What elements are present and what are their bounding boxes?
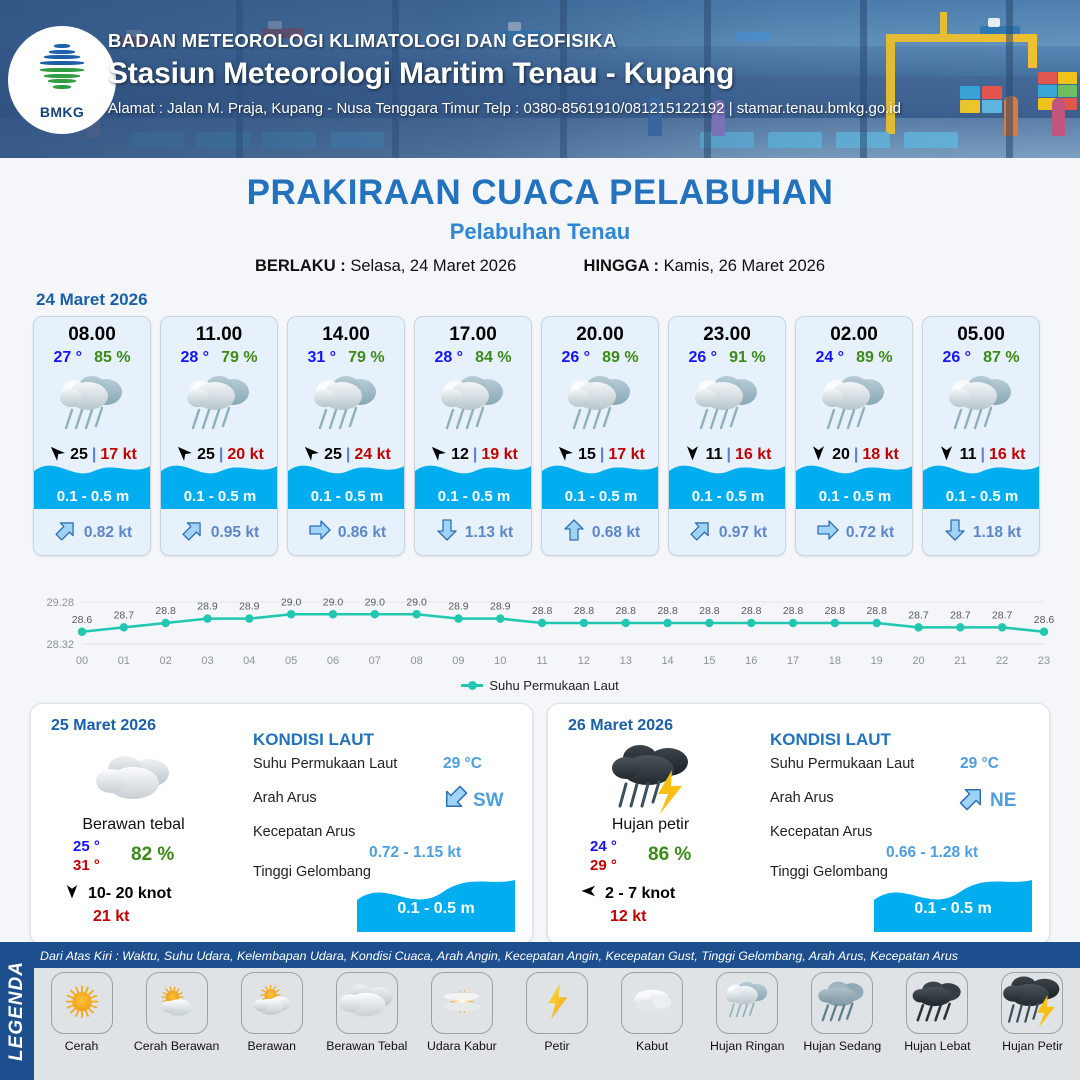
svg-text:28.9: 28.9: [448, 601, 469, 613]
svg-text:13: 13: [620, 655, 632, 667]
svg-text:02: 02: [160, 655, 172, 667]
card-wave-height: 0.1 - 0.5 m: [923, 483, 1040, 509]
legend-item: Udara Kabur: [414, 972, 509, 1053]
arrow-left-icon: [580, 882, 598, 905]
svg-text:00: 00: [76, 655, 88, 667]
svg-text:28.8: 28.8: [155, 605, 176, 617]
svg-text:16: 16: [745, 655, 757, 667]
card-humidity: 89 %: [602, 349, 638, 367]
card-current-speed: 1.18 kt: [973, 524, 1021, 542]
chart-legend-label: Suhu Permukaan Laut: [489, 678, 618, 693]
card-time: 20.00: [542, 317, 658, 346]
card-wave-height: 0.1 - 0.5 m: [288, 483, 405, 509]
svg-text:29.0: 29.0: [406, 596, 427, 608]
rain-sun-cloud-icon: [288, 369, 404, 441]
day-wind-speed: 10- 20 knot: [88, 885, 172, 903]
valid-from-value: Selasa, 24 Maret 2026: [350, 257, 516, 275]
sun-behind-cloud-icon: [241, 972, 303, 1034]
rain-sun-cloud-icon: [796, 369, 912, 441]
svg-text:28.9: 28.9: [239, 601, 260, 613]
card-temperature: 24 °: [815, 349, 844, 367]
day-temp-min: 24 °: [590, 838, 617, 855]
bmkg-logo-text: BMKG: [40, 104, 84, 120]
station-name: Stasiun Meteorologi Maritim Tenau - Kupa…: [108, 57, 1068, 91]
rain-sun-cloud-icon: [415, 369, 531, 441]
svg-text:28.8: 28.8: [699, 605, 720, 617]
card-time: 02.00: [796, 317, 912, 346]
day-date: 26 Maret 2026: [568, 717, 673, 735]
sst-chart-svg: 29.2828.3228.60028.70128.80228.90328.904…: [20, 570, 1060, 670]
moderate-rain-icon: [811, 972, 873, 1034]
day-gust: 12 kt: [610, 908, 646, 926]
hourly-card: 17.00 28 ° 84 %: [414, 316, 532, 556]
wave-graphic: 0.1 - 0.5 m: [874, 874, 1032, 932]
card-temp-humidity: 26 ° 87 %: [923, 349, 1039, 367]
hourly-card: 05.00 26 ° 87 %: [922, 316, 1040, 556]
legend-side-text: LEGENDA: [6, 961, 28, 1061]
svg-text:28.6: 28.6: [72, 614, 93, 626]
card-temperature: 28 °: [434, 349, 463, 367]
card-time: 17.00: [415, 317, 531, 346]
day-temp-min: 25 °: [73, 838, 100, 855]
arrow-right-icon: [308, 518, 332, 547]
wave-graphic: 0.1 - 0.5 m: [357, 874, 515, 932]
legend-item-label: Kabut: [636, 1039, 668, 1053]
hourly-date-label: 24 Maret 2026: [36, 290, 1080, 310]
svg-text:09: 09: [452, 655, 464, 667]
card-humidity: 84 %: [475, 349, 511, 367]
sun-icon: [51, 972, 113, 1034]
card-wave-height: 0.1 - 0.5 m: [415, 483, 532, 509]
page-header: BMKG BADAN METEOROLOGI KLIMATOLOGI DAN G…: [0, 0, 1080, 158]
card-temperature: 31 °: [307, 349, 336, 367]
card-wave-height: 0.1 - 0.5 m: [796, 483, 913, 509]
card-temp-humidity: 24 ° 89 %: [796, 349, 912, 367]
legend-item: Hujan Lebat: [890, 972, 985, 1053]
card-current-row: 0.68 kt: [542, 518, 659, 547]
hourly-card: 02.00 24 ° 89 %: [795, 316, 913, 556]
day-temperature-range: 24 ° 29 °: [590, 838, 617, 874]
legend-item: Hujan Sedang: [795, 972, 890, 1053]
card-humidity: 79 %: [348, 349, 384, 367]
legend-item-label: Cerah Berawan: [134, 1039, 219, 1053]
card-wave-height: 0.1 - 0.5 m: [34, 483, 151, 509]
svg-text:28.8: 28.8: [616, 605, 637, 617]
daily-forecast-panel: 26 Maret 2026 Hujan petir 24 ° 29 ° 86 %…: [547, 703, 1050, 945]
card-temperature: 26 °: [688, 349, 717, 367]
card-temp-humidity: 31 ° 79 %: [288, 349, 404, 367]
card-wave-height: 0.1 - 0.5 m: [161, 483, 278, 509]
svg-text:14: 14: [661, 655, 673, 667]
svg-text:28.32: 28.32: [46, 639, 74, 651]
current-speed-label: Kecepatan Arus: [770, 824, 872, 840]
legend-icon-list: Cerah Cerah Berawan Berawan: [34, 972, 1080, 1053]
sst-chart: 29.2828.3228.60028.70128.80228.90328.904…: [20, 570, 1060, 670]
legend-item-label: Hujan Sedang: [803, 1039, 881, 1053]
svg-text:29.28: 29.28: [46, 597, 74, 609]
day-humidity: 86 %: [648, 844, 691, 866]
current-speed-value: 0.72 - 1.15 kt: [369, 844, 461, 862]
svg-text:15: 15: [703, 655, 715, 667]
card-humidity: 87 %: [983, 349, 1019, 367]
card-current-row: 0.82 kt: [34, 518, 151, 547]
agency-name: BADAN METEOROLOGI KLIMATOLOGI DAN GEOFIS…: [108, 30, 1068, 52]
svg-text:28.8: 28.8: [866, 605, 887, 617]
svg-text:19: 19: [871, 655, 883, 667]
svg-text:28.6: 28.6: [1034, 614, 1055, 626]
svg-text:22: 22: [996, 655, 1008, 667]
svg-text:11: 11: [536, 655, 547, 667]
svg-text:28.7: 28.7: [950, 609, 971, 621]
validity-period: BERLAKU : Selasa, 24 Maret 2026 HINGGA :…: [0, 257, 1080, 276]
legend-item: Hujan Petir: [985, 972, 1080, 1053]
legend-item: Petir: [509, 972, 604, 1053]
card-current-row: 0.97 kt: [669, 518, 786, 547]
thunderstorm-icon: [1001, 972, 1063, 1034]
legend-section: LEGENDA Dari Atas Kiri : Waktu, Suhu Uda…: [0, 942, 1080, 1080]
svg-text:28.8: 28.8: [574, 605, 595, 617]
card-current-row: 1.18 kt: [923, 518, 1040, 547]
arrow-down-icon: [63, 882, 81, 905]
current-speed-value: 0.66 - 1.28 kt: [886, 844, 978, 862]
legend-item-label: Hujan Ringan: [710, 1039, 785, 1053]
card-humidity: 91 %: [729, 349, 765, 367]
valid-until-value: Kamis, 26 Maret 2026: [664, 257, 825, 275]
thick-cloud-icon: [336, 972, 398, 1034]
wave-height-label: Tinggi Gelombang: [253, 864, 371, 880]
svg-text:10: 10: [494, 655, 506, 667]
card-humidity: 89 %: [856, 349, 892, 367]
card-humidity: 85 %: [94, 349, 130, 367]
lightning-icon: [526, 972, 588, 1034]
legend-item-label: Berawan: [247, 1039, 296, 1053]
day-temp-max: 31 °: [73, 857, 100, 874]
rain-sun-cloud-icon: [34, 369, 150, 441]
card-current-row: 0.95 kt: [161, 518, 278, 547]
sea-condition-title: KONDISI LAUT: [253, 730, 374, 750]
legend-item: Berawan: [224, 972, 319, 1053]
sst-label: Suhu Permukaan Laut: [770, 756, 914, 772]
chart-legend-marker: [461, 684, 483, 687]
bmkg-logo-mark: [31, 41, 93, 103]
header-text-block: BADAN METEOROLOGI KLIMATOLOGI DAN GEOFIS…: [108, 30, 1068, 117]
day-date: 25 Maret 2026: [51, 717, 156, 735]
chart-legend: Suhu Permukaan Laut: [0, 678, 1080, 693]
legend-item: Hujan Ringan: [700, 972, 795, 1053]
page-title: PRAKIRAAN CUACA PELABUHAN: [0, 173, 1080, 213]
arrow-down-icon: [435, 518, 459, 547]
day-humidity: 82 %: [131, 844, 174, 866]
svg-text:12: 12: [578, 655, 590, 667]
card-current-speed: 0.68 kt: [592, 524, 640, 542]
card-temp-humidity: 27 ° 85 %: [34, 349, 150, 367]
svg-text:05: 05: [285, 655, 297, 667]
wave-height-value: 0.1 - 0.5 m: [874, 900, 1032, 918]
svg-text:28.8: 28.8: [825, 605, 846, 617]
current-direction-label: Arah Arus: [770, 790, 834, 806]
card-current-speed: 0.82 kt: [84, 524, 132, 542]
svg-text:28.8: 28.8: [783, 605, 804, 617]
svg-text:01: 01: [118, 655, 130, 667]
card-time: 05.00: [923, 317, 1039, 346]
card-temperature: 26 °: [561, 349, 590, 367]
current-direction-value: NE: [990, 790, 1016, 812]
wave-height-label: Tinggi Gelombang: [770, 864, 888, 880]
arrow-up-icon: [562, 518, 586, 547]
current-direction-value-row: NE: [958, 784, 1016, 817]
day-wind-row: 10- 20 knot: [63, 882, 172, 905]
legend-item: Kabut: [605, 972, 700, 1053]
svg-text:28.9: 28.9: [490, 601, 511, 613]
title-section: PRAKIRAAN CUACA PELABUHAN Pelabuhan Tena…: [0, 158, 1080, 276]
card-current-speed: 0.97 kt: [719, 524, 767, 542]
card-humidity: 79 %: [221, 349, 257, 367]
svg-text:23: 23: [1038, 655, 1050, 667]
arrow-right-icon: [816, 518, 840, 547]
arrow-up-right-icon: [958, 784, 986, 817]
svg-text:29.0: 29.0: [323, 596, 344, 608]
svg-text:18: 18: [829, 655, 841, 667]
svg-text:28.7: 28.7: [992, 609, 1013, 621]
card-time: 08.00: [34, 317, 150, 346]
legend-item: Cerah Berawan: [129, 972, 224, 1053]
card-time: 23.00: [669, 317, 785, 346]
station-address: Alamat : Jalan M. Praja, Kupang - Nusa T…: [108, 100, 1068, 117]
svg-text:28.8: 28.8: [532, 605, 553, 617]
hourly-card: 11.00 28 ° 79 %: [160, 316, 278, 556]
legend-item-label: Petir: [544, 1039, 569, 1053]
hourly-card: 08.00 27 ° 85 %: [33, 316, 151, 556]
day-condition: Berawan tebal: [31, 816, 236, 834]
current-direction-label: Arah Arus: [253, 790, 317, 806]
svg-text:28.8: 28.8: [741, 605, 762, 617]
page-subtitle: Pelabuhan Tenau: [0, 219, 1080, 245]
sst-label: Suhu Permukaan Laut: [253, 756, 397, 772]
card-time: 14.00: [288, 317, 404, 346]
day-temp-max: 29 °: [590, 857, 617, 874]
rain-sun-cloud-icon: [161, 369, 277, 441]
hourly-forecast-list: 08.00 27 ° 85 %: [0, 316, 1080, 556]
day-temperature-range: 25 ° 31 °: [73, 838, 100, 874]
arrow-down-left-icon: [441, 784, 469, 817]
svg-text:29.0: 29.0: [281, 596, 302, 608]
current-direction-value: SW: [473, 790, 504, 812]
sun-cloud-icon: [146, 972, 208, 1034]
svg-text:28.7: 28.7: [114, 609, 135, 621]
thunderstorm-icon: [596, 740, 706, 818]
card-temperature: 27 °: [53, 349, 82, 367]
card-temperature: 28 °: [180, 349, 209, 367]
card-wave-height: 0.1 - 0.5 m: [669, 483, 786, 509]
sea-condition-title: KONDISI LAUT: [770, 730, 891, 750]
arrow-down-icon: [943, 518, 967, 547]
sst-value: 29 °C: [443, 755, 482, 773]
valid-until-label: HINGGA :: [584, 257, 659, 275]
haze-sun-icon: [431, 972, 493, 1034]
daily-forecast-panel: 25 Maret 2026 Berawan tebal 25 ° 31 ° 82…: [30, 703, 533, 945]
hourly-card: 14.00 31 ° 79 %: [287, 316, 405, 556]
legend-item-label: Hujan Petir: [1002, 1039, 1063, 1053]
rain-sun-cloud-icon: [669, 369, 785, 441]
svg-text:03: 03: [201, 655, 213, 667]
svg-text:07: 07: [369, 655, 381, 667]
svg-text:20: 20: [912, 655, 924, 667]
current-direction-value-row: SW: [441, 784, 504, 817]
day-condition: Hujan petir: [548, 816, 753, 834]
legend-side-label: LEGENDA: [0, 942, 34, 1080]
card-current-speed: 0.72 kt: [846, 524, 894, 542]
hourly-card: 23.00 26 ° 91 %: [668, 316, 786, 556]
card-current-speed: 0.95 kt: [211, 524, 259, 542]
sst-value: 29 °C: [960, 755, 999, 773]
card-current-row: 0.72 kt: [796, 518, 913, 547]
legend-description: Dari Atas Kiri : Waktu, Suhu Udara, Kele…: [40, 949, 1070, 963]
card-wave-height: 0.1 - 0.5 m: [542, 483, 659, 509]
svg-text:08: 08: [410, 655, 422, 667]
card-temp-humidity: 28 ° 79 %: [161, 349, 277, 367]
day-gust: 21 kt: [93, 908, 129, 926]
thick-cloud-icon: [79, 740, 189, 818]
card-temp-humidity: 26 ° 89 %: [542, 349, 658, 367]
legend-item-label: Berawan Tebal: [326, 1039, 407, 1053]
svg-text:17: 17: [787, 655, 799, 667]
svg-text:29.0: 29.0: [365, 596, 386, 608]
rain-sun-cloud-icon: [923, 369, 1039, 441]
wave-height-value: 0.1 - 0.5 m: [357, 900, 515, 918]
daily-forecast-panels: 25 Maret 2026 Berawan tebal 25 ° 31 ° 82…: [0, 693, 1080, 945]
legend-item-label: Cerah: [65, 1039, 99, 1053]
rain-sun-cloud-icon: [542, 369, 658, 441]
arrow-up-right-icon: [689, 518, 713, 547]
heavy-rain-icon: [906, 972, 968, 1034]
svg-text:04: 04: [243, 655, 255, 667]
svg-text:21: 21: [954, 655, 966, 667]
legend-item-label: Udara Kabur: [427, 1039, 497, 1053]
arrow-up-right-icon: [54, 518, 78, 547]
svg-text:28.9: 28.9: [197, 601, 218, 613]
bmkg-logo: BMKG: [8, 26, 116, 134]
arrow-up-right-icon: [181, 518, 205, 547]
legend-item-label: Hujan Lebat: [904, 1039, 970, 1053]
legend-item: Berawan Tebal: [319, 972, 414, 1053]
svg-text:06: 06: [327, 655, 339, 667]
light-rain-icon: [716, 972, 778, 1034]
day-wind-speed: 2 - 7 knot: [605, 885, 675, 903]
card-temp-humidity: 26 ° 91 %: [669, 349, 785, 367]
card-current-row: 1.13 kt: [415, 518, 532, 547]
card-current-speed: 1.13 kt: [465, 524, 513, 542]
svg-text:28.8: 28.8: [657, 605, 678, 617]
card-current-row: 0.86 kt: [288, 518, 405, 547]
fog-icon: [621, 972, 683, 1034]
valid-from-label: BERLAKU :: [255, 257, 346, 275]
card-time: 11.00: [161, 317, 277, 346]
card-temp-humidity: 28 ° 84 %: [415, 349, 531, 367]
hourly-card: 20.00 26 ° 89 %: [541, 316, 659, 556]
card-current-speed: 0.86 kt: [338, 524, 386, 542]
card-temperature: 26 °: [942, 349, 971, 367]
svg-text:28.7: 28.7: [908, 609, 929, 621]
legend-item: Cerah: [34, 972, 129, 1053]
day-wind-row: 2 - 7 knot: [580, 882, 675, 905]
current-speed-label: Kecepatan Arus: [253, 824, 355, 840]
